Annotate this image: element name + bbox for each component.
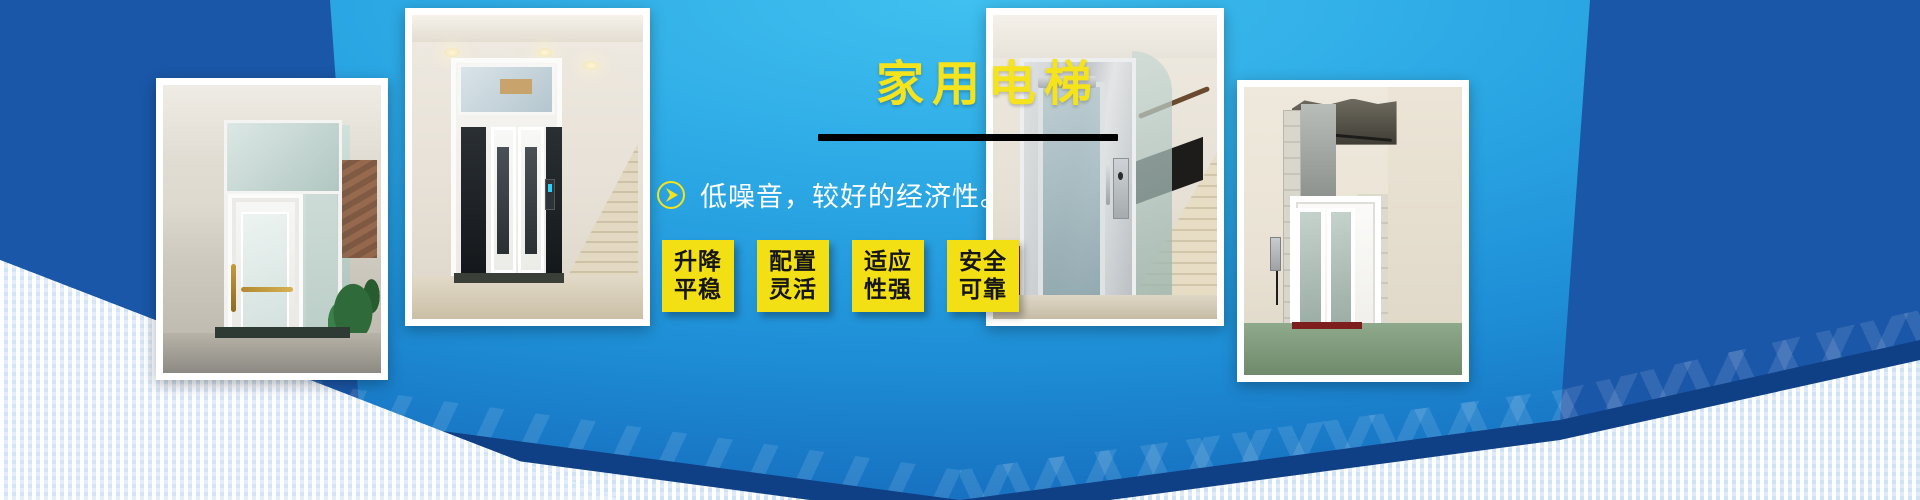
- banner-title: 家用电梯: [648, 60, 1288, 108]
- feature-badge-list: 升降 平稳 配置 灵活 适应 性强 安全 可靠: [662, 240, 1288, 312]
- feature-badge-3-line1: 适应: [864, 248, 912, 276]
- feature-badge-1-line1: 升降: [674, 248, 722, 276]
- feature-badge-2-line2: 灵活: [769, 276, 817, 304]
- feature-badge-4[interactable]: 安全 可靠: [947, 240, 1019, 312]
- feature-badge-1[interactable]: 升降 平稳: [662, 240, 734, 312]
- photo-card-2[interactable]: [405, 8, 650, 326]
- circle-arrow-right-icon: [656, 180, 686, 210]
- feature-badge-4-line1: 安全: [959, 248, 1007, 276]
- photo-image-home-elevator-glass-shaft-with-plant: [163, 85, 381, 373]
- banner-subtitle-row: 低噪音，较好的经济性。: [656, 175, 1288, 214]
- photo-card-1[interactable]: [156, 78, 388, 380]
- feature-badge-2-line1: 配置: [769, 248, 817, 276]
- title-divider: [818, 134, 1118, 141]
- feature-badge-2[interactable]: 配置 灵活: [757, 240, 829, 312]
- feature-badge-4-line2: 可靠: [959, 276, 1007, 304]
- banner-content: 家用电梯 低噪音，较好的经济性。 升降 平稳 配置 灵活 适应 性强: [648, 60, 1288, 312]
- home-elevator-banner: 家用电梯 低噪音，较好的经济性。 升降 平稳 配置 灵活 适应 性强: [0, 0, 1920, 500]
- feature-badge-3-line2: 性强: [864, 276, 912, 304]
- feature-badge-3[interactable]: 适应 性强: [852, 240, 924, 312]
- feature-badge-1-line2: 平稳: [674, 276, 722, 304]
- photo-image-home-elevator-lobby-with-stairs: [412, 15, 643, 319]
- banner-subtitle: 低噪音，较好的经济性。: [700, 175, 1008, 214]
